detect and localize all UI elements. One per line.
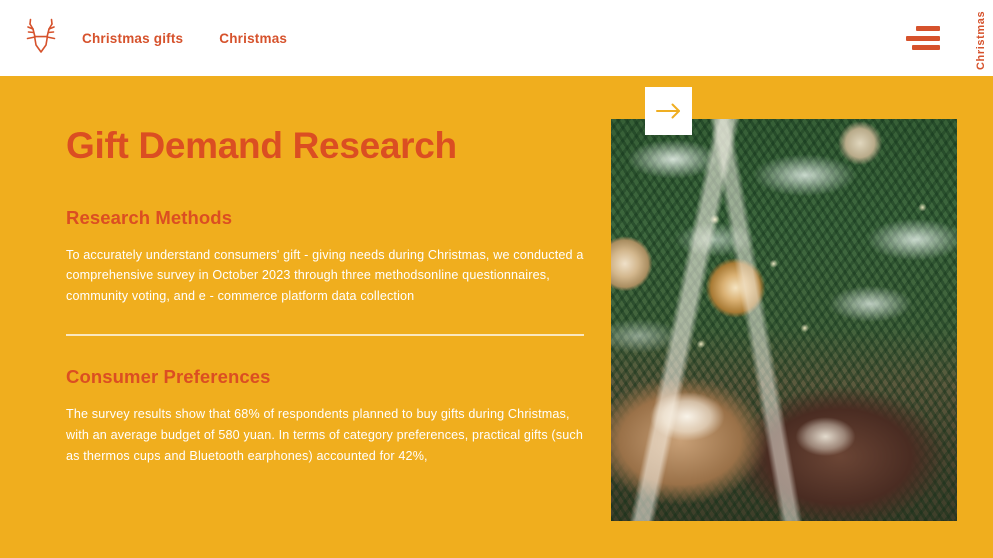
hero-content: Gift Demand Research Research Methods To… xyxy=(66,126,596,466)
section-consumer-preferences: Consumer Preferences The survey results … xyxy=(66,366,596,466)
christmas-tree-gifts-image xyxy=(611,119,957,521)
hero-photo xyxy=(611,119,957,521)
page-title: Gift Demand Research xyxy=(66,126,596,167)
section-heading-consumer-preferences: Consumer Preferences xyxy=(66,366,596,388)
reindeer-head-icon[interactable] xyxy=(22,14,60,62)
hamburger-bar-middle xyxy=(906,36,940,41)
slide-page: Christmas gifts Christmas Christmas Gift… xyxy=(0,0,993,558)
section-divider xyxy=(66,334,584,336)
section-research-methods: Research Methods To accurately understan… xyxy=(66,207,596,307)
arrow-right-icon xyxy=(655,102,682,120)
hamburger-bar-bottom xyxy=(912,45,940,50)
section-heading-research-methods: Research Methods xyxy=(66,207,596,229)
next-slide-button[interactable] xyxy=(645,87,692,135)
section-body-consumer-preferences: The survey results show that 68% of resp… xyxy=(66,404,596,466)
vertical-brand-label: Christmas xyxy=(975,8,987,70)
hamburger-bar-top xyxy=(916,26,940,31)
nav-item-christmas-gifts[interactable]: Christmas gifts xyxy=(82,31,183,46)
hamburger-menu-icon[interactable] xyxy=(906,26,940,50)
nav-item-christmas[interactable]: Christmas xyxy=(219,31,287,46)
section-body-research-methods: To accurately understand consumers' gift… xyxy=(66,245,596,307)
site-header: Christmas gifts Christmas Christmas xyxy=(0,0,993,76)
main-navigation: Christmas gifts Christmas xyxy=(82,0,287,76)
